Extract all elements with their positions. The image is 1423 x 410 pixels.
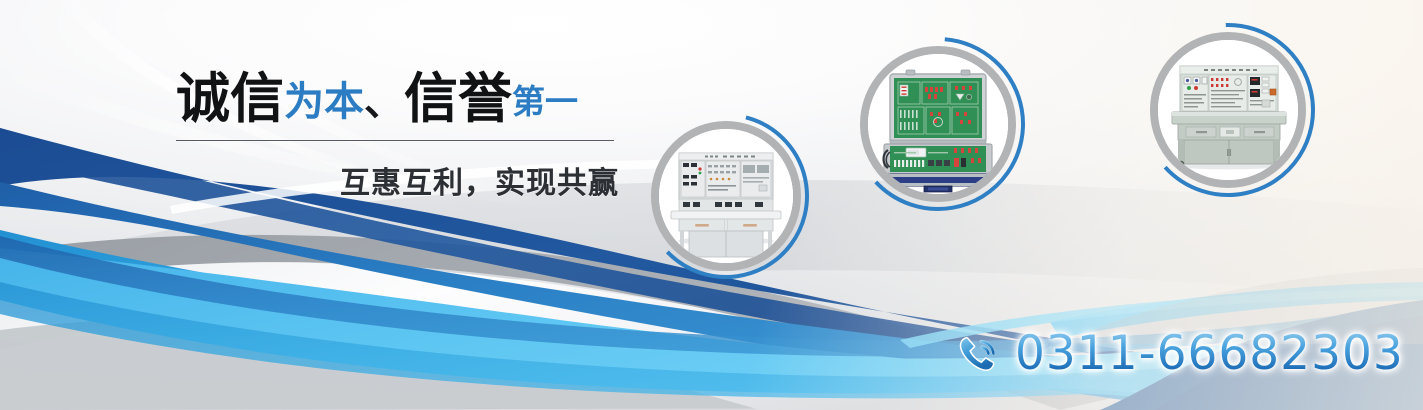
promo-banner: 诚信为本、信誉第一 互惠互利，实现共赢 — [0, 0, 1423, 410]
contact-block[interactable]: 0311-66682303 — [955, 326, 1404, 381]
electrical-training-workbench — [659, 129, 793, 263]
phone-number[interactable]: 0311-66682303 — [1015, 326, 1404, 381]
headline: 诚信为本、信誉第一 — [176, 72, 578, 126]
product-photo-3 — [1158, 40, 1298, 180]
headline-separator: 、 — [364, 80, 404, 124]
portable-electronics-training-case — [868, 54, 1008, 194]
product-circle-2[interactable] — [850, 36, 1026, 212]
headline-part-3: 信誉 — [404, 69, 512, 129]
phone-call-icon — [955, 331, 1001, 377]
product-photo-2 — [868, 54, 1008, 194]
product-circle-1[interactable] — [642, 112, 810, 280]
headline-divider — [176, 140, 614, 141]
product-photo-1 — [659, 129, 793, 263]
headline-part-4: 第一 — [512, 83, 578, 120]
headline-part-2: 为本 — [284, 80, 364, 124]
headline-part-1: 诚信 — [176, 69, 284, 129]
subline: 互惠互利，实现共赢 — [340, 158, 619, 202]
product-circle-3[interactable] — [1140, 22, 1316, 198]
electrical-control-test-bench — [1158, 40, 1298, 180]
